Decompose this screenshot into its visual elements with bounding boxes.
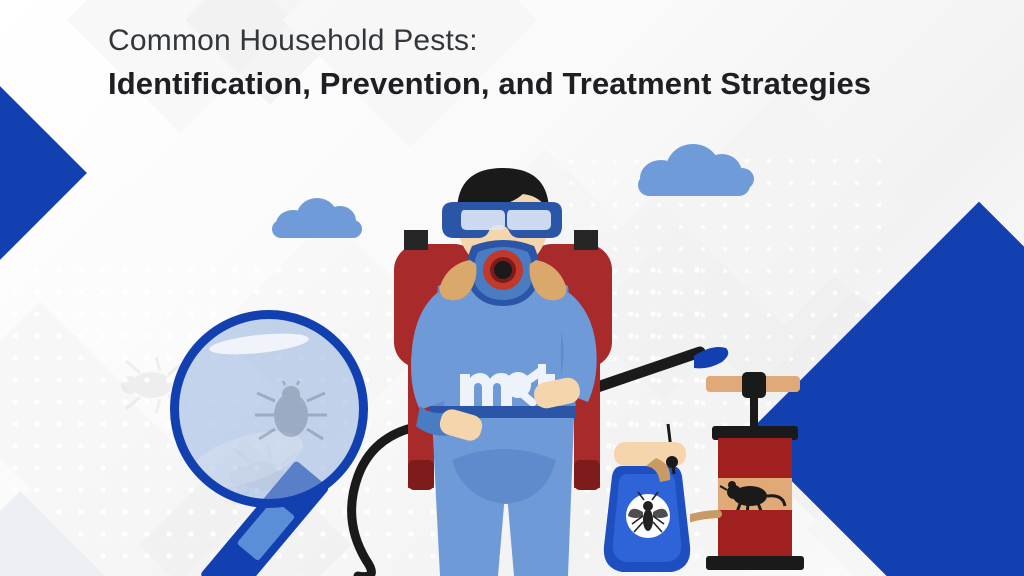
pump-base [706,556,804,570]
magnified-bug-icon [251,381,327,451]
pump-tank-bottom [718,510,792,558]
cloud-large [638,144,758,198]
pest-control-banner: Common Household Pests: Identification, … [0,0,1024,576]
title-line-one: Common Household Pests: [108,22,871,60]
title-line-two: Identification, Prevention, and Treatmen… [108,64,871,104]
lens-highlight [208,330,309,358]
pump-tank-top [718,438,792,480]
pest-control-worker [378,160,628,576]
banner-title: Common Household Pests: Identification, … [108,22,871,104]
cloud-small [272,198,368,240]
magnifier-lens [170,310,368,508]
pump-rod [750,394,758,428]
